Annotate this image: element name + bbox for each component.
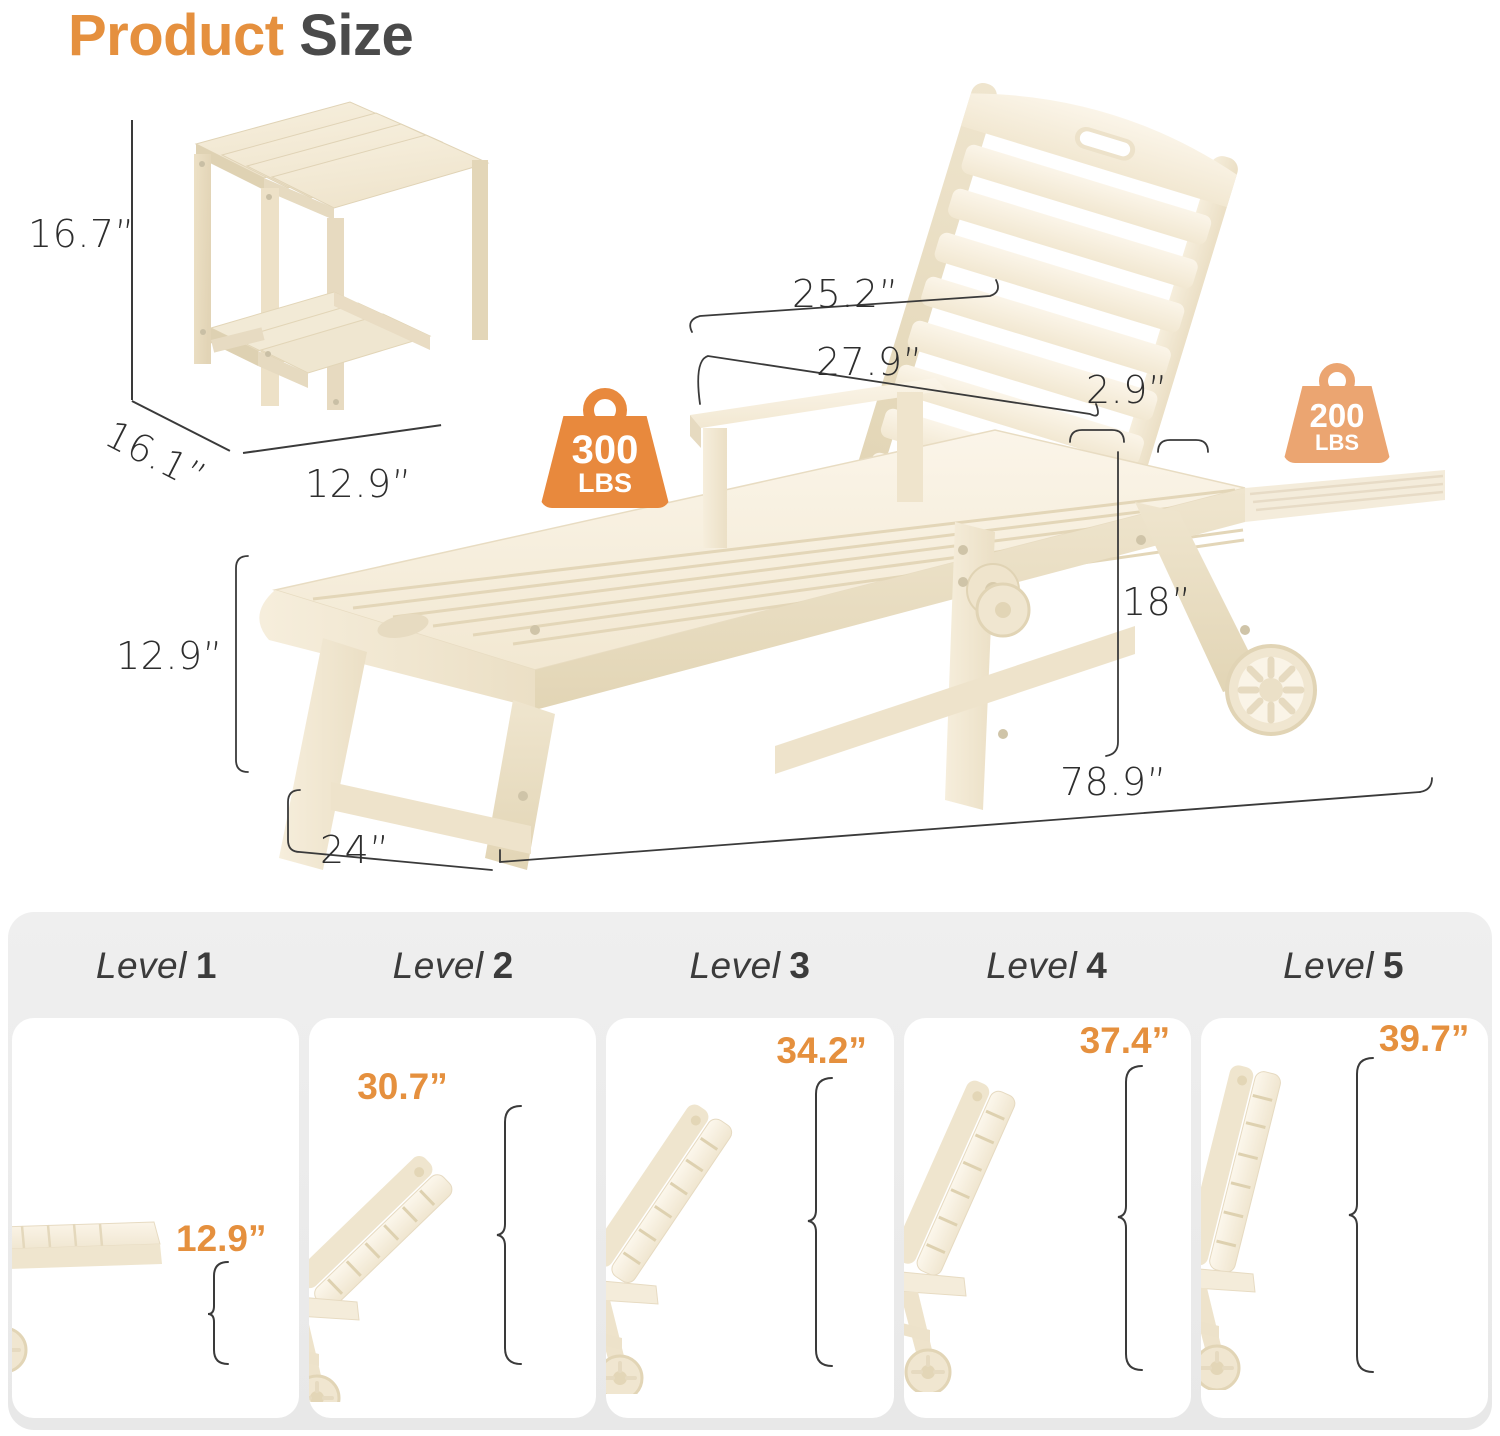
chaise-back-to-arm-label: 27.9” [816,340,923,384]
level-1-chair-illustration [12,1170,214,1400]
level-1-measure: 12.9” [176,1218,267,1260]
level-number: 2 [493,945,514,987]
level-5-measure: 39.7” [1379,1018,1470,1060]
chaise-slat-thickness-label: 2.9” [1086,368,1168,412]
levels-header-row: Level1 Level2 Level3 Level4 Level5 [8,912,1492,1020]
level-2-chair-illustration [309,1102,515,1402]
level-number: 4 [1086,945,1107,987]
level-card-1[interactable]: 12.9” [12,1018,299,1418]
level-title-4: Level4 [898,912,1195,1020]
level-card-2[interactable]: 30.7” [309,1018,596,1418]
level-card-4[interactable]: 37.4” [904,1018,1191,1418]
level-cards-row: 12.9” [8,1018,1492,1426]
level-3-brace [806,1074,850,1370]
level-4-measure: 37.4” [1080,1020,1171,1062]
weight-badge-body: 300 LBS [540,416,670,508]
level-number: 3 [789,945,810,987]
chaise-dimension-guides [0,0,1500,900]
level-card-3[interactable]: 34.2” [606,1018,893,1418]
chaise-seat-height-rear-label: 18” [1122,580,1192,624]
level-title-5: Level5 [1195,912,1492,1020]
level-word: Level [1283,945,1374,987]
level-2-brace [495,1102,539,1368]
level-3-measure: 34.2” [776,1030,867,1072]
chaise-backrest-length-label: 25.2” [792,272,899,316]
level-card-5[interactable]: 39.7” [1201,1018,1488,1418]
level-title-3: Level3 [602,912,899,1020]
weight-value: 300 [572,431,639,469]
level-3-chair-illustration [606,1074,820,1394]
level-title-1: Level1 [8,912,305,1020]
level-word: Level [689,945,780,987]
chaise-seat-height-front-label: 12.9” [116,634,223,678]
level-4-chair-illustration [904,1062,1130,1392]
level-2-measure: 30.7” [357,1066,448,1108]
level-1-brace [206,1258,246,1368]
level-4-brace [1116,1062,1160,1374]
level-word: Level [96,945,187,987]
chaise-width-label: 24” [320,828,390,872]
level-word: Level [393,945,484,987]
chaise-overall-length-label: 78.9” [1060,760,1167,804]
level-number: 5 [1383,945,1404,987]
level-number: 1 [196,945,217,987]
level-5-brace [1347,1054,1391,1376]
level-title-2: Level2 [305,912,602,1020]
level-word: Level [986,945,1077,987]
weight-unit: LBS [578,469,632,499]
chaise-weight-capacity-badge: 300 LBS [540,388,670,508]
recline-levels-panel: Level1 Level2 Level3 Level4 Level5 12.9” [8,912,1492,1430]
